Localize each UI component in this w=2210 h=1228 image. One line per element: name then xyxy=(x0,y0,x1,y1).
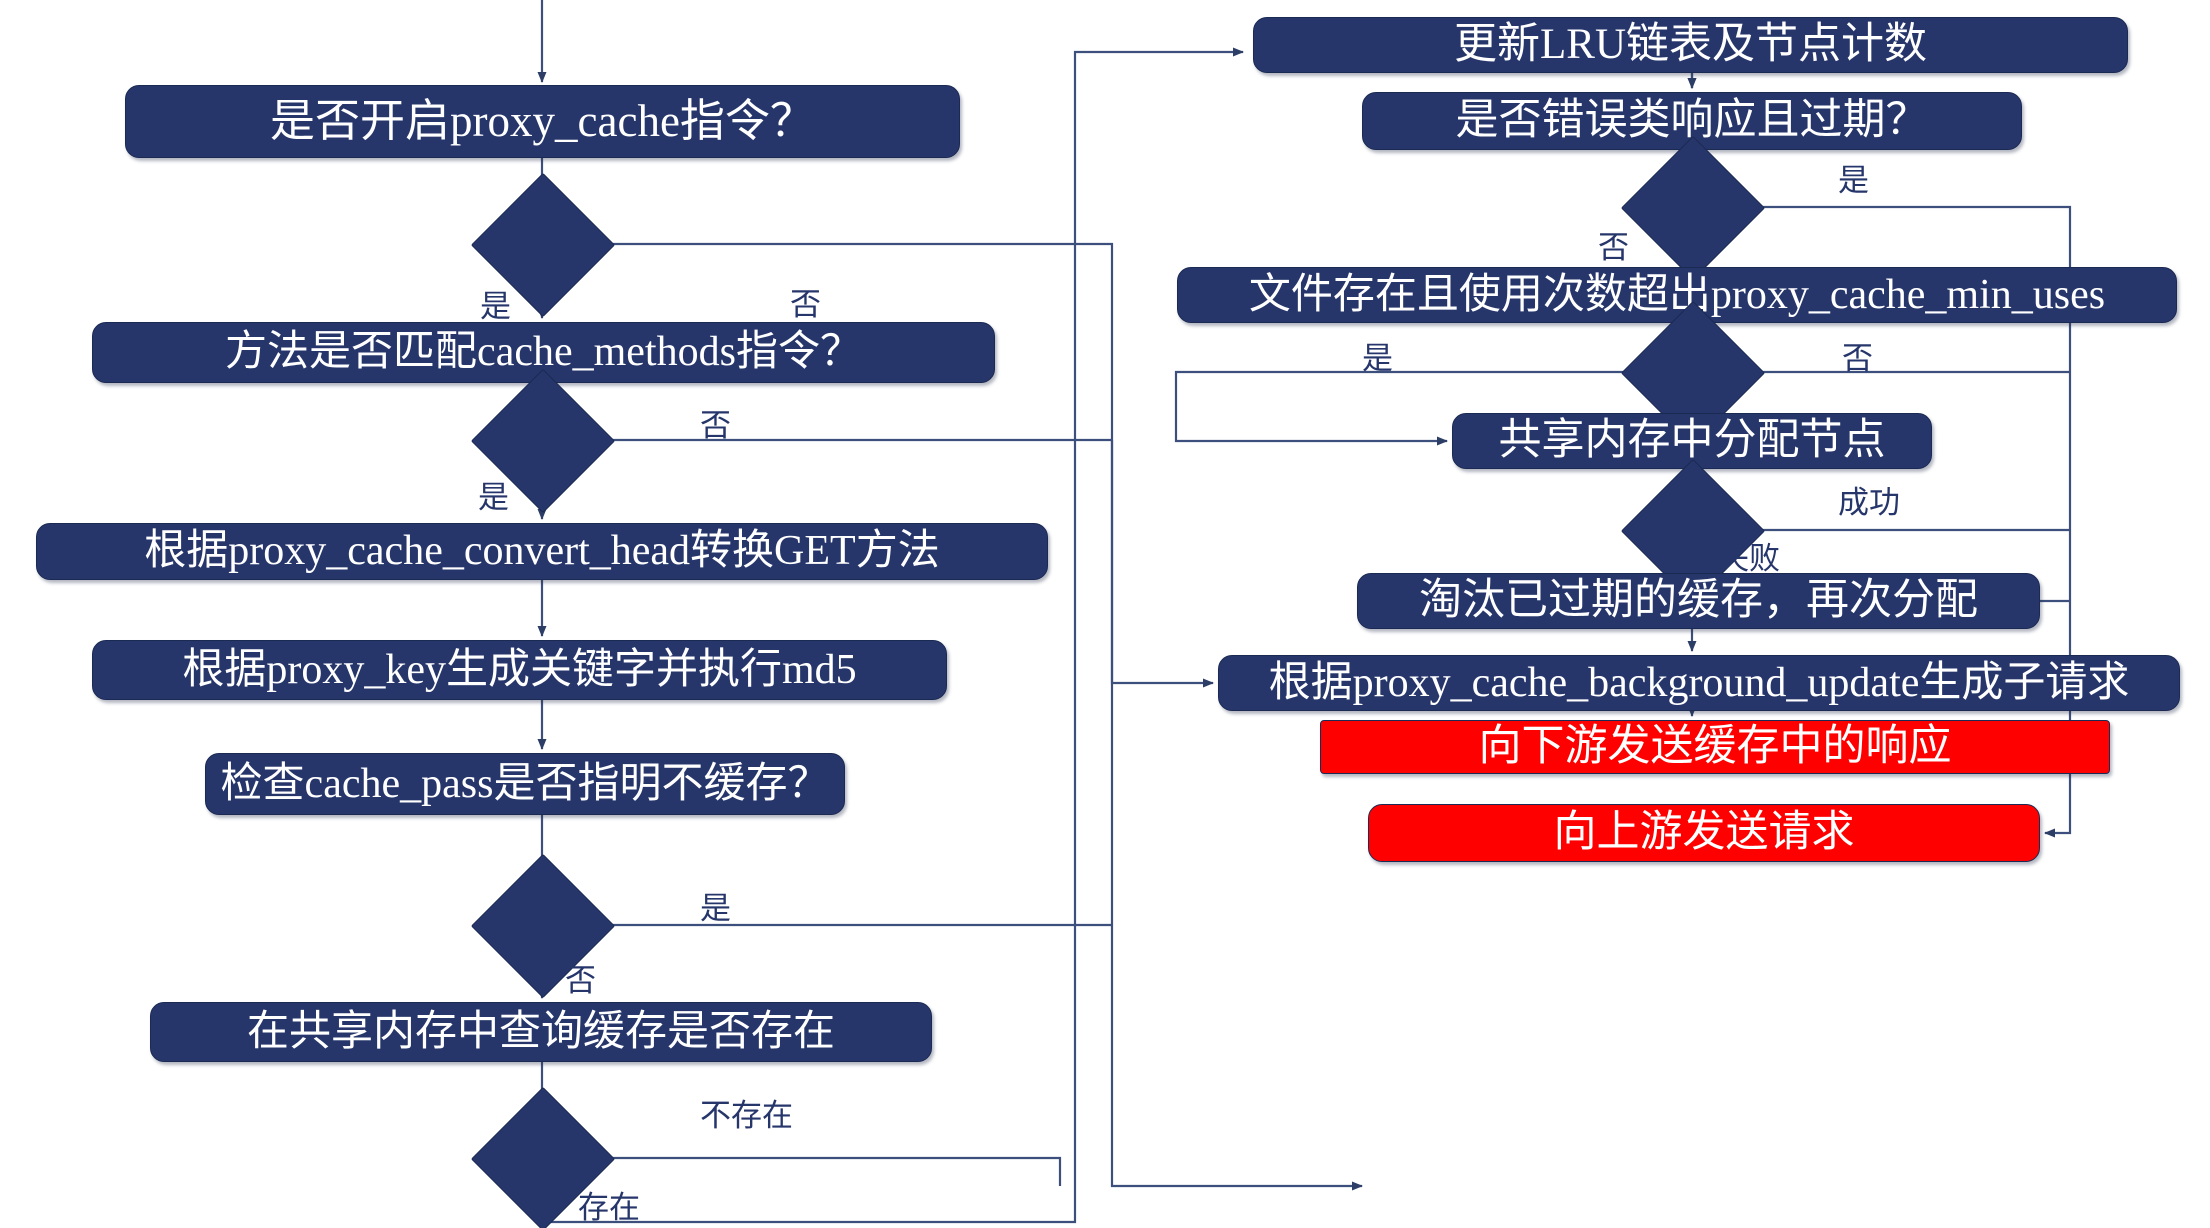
node-label: 是否开启proxy_cache指令？ xyxy=(270,98,815,145)
edge-label-d1-yes: 是 xyxy=(480,281,511,326)
edge-label-d5-no: 否 xyxy=(1598,222,1629,267)
node-evict-expired[interactable]: 淘汰已过期的缓存，再次分配 xyxy=(1357,573,2040,629)
edge-label-d7-ok: 成功 xyxy=(1838,477,1900,522)
node-proxy-key-md5[interactable]: 根据proxy_key生成关键字并执行md5 xyxy=(92,640,947,700)
node-label: 共享内存中分配节点 xyxy=(1499,418,1886,463)
node-label: 淘汰已过期的缓存，再次分配 xyxy=(1419,578,1978,623)
node-background-update[interactable]: 根据proxy_cache_background_update生成子请求 xyxy=(1218,655,2180,711)
edge-label-d3-yes: 是 xyxy=(700,883,731,928)
node-label: 更新LRU链表及节点计数 xyxy=(1454,22,1927,67)
node-check-cache-pass[interactable]: 检查cache_pass是否指明不缓存？ xyxy=(205,753,845,815)
node-update-lru[interactable]: 更新LRU链表及节点计数 xyxy=(1253,17,2128,73)
node-label: 在共享内存中查询缓存是否存在 xyxy=(247,1010,835,1054)
edge-label-d6-no: 否 xyxy=(1842,333,1873,378)
flowchart-canvas: 是否开启proxy_cache指令？ 是 否 方法是否匹配cache_metho… xyxy=(0,0,2210,1228)
node-send-upstream-request[interactable]: 向上游发送请求 xyxy=(1368,804,2040,862)
node-min-uses[interactable]: 文件存在且使用次数超出proxy_cache_min_uses xyxy=(1177,267,2177,323)
edge-label-d3-no: 否 xyxy=(565,955,596,1000)
node-convert-head[interactable]: 根据proxy_cache_convert_head转换GET方法 xyxy=(36,523,1048,580)
edge-label-d5-yes: 是 xyxy=(1838,155,1869,200)
node-label: 根据proxy_key生成关键字并执行md5 xyxy=(182,648,856,692)
edge-label-d1-no: 否 xyxy=(790,279,821,324)
edge-label-d7-fail: 失败 xyxy=(1718,533,1780,578)
node-label: 检查cache_pass是否指明不缓存？ xyxy=(221,762,830,806)
edge-label-d4-miss: 不存在 xyxy=(700,1090,793,1135)
edge-label-d6-yes: 是 xyxy=(1362,333,1393,378)
node-label: 方法是否匹配cache_methods指令？ xyxy=(225,330,862,374)
node-proxy-cache-enabled[interactable]: 是否开启proxy_cache指令？ xyxy=(125,85,960,158)
node-label: 文件存在且使用次数超出proxy_cache_min_uses xyxy=(1249,273,2105,317)
node-label: 根据proxy_cache_background_update生成子请求 xyxy=(1269,661,2130,705)
edge-label-d4-hit: 存在 xyxy=(578,1182,640,1227)
node-query-shared-memory[interactable]: 在共享内存中查询缓存是否存在 xyxy=(150,1002,932,1062)
node-label: 向下游发送缓存中的响应 xyxy=(1479,724,1952,769)
edge-label-d2-no: 否 xyxy=(700,400,731,445)
node-label: 向上游发送请求 xyxy=(1554,810,1855,855)
node-label: 根据proxy_cache_convert_head转换GET方法 xyxy=(144,529,939,573)
node-send-cached-response[interactable]: 向下游发送缓存中的响应 xyxy=(1320,720,2110,774)
edge-label-d2-yes: 是 xyxy=(478,472,509,517)
